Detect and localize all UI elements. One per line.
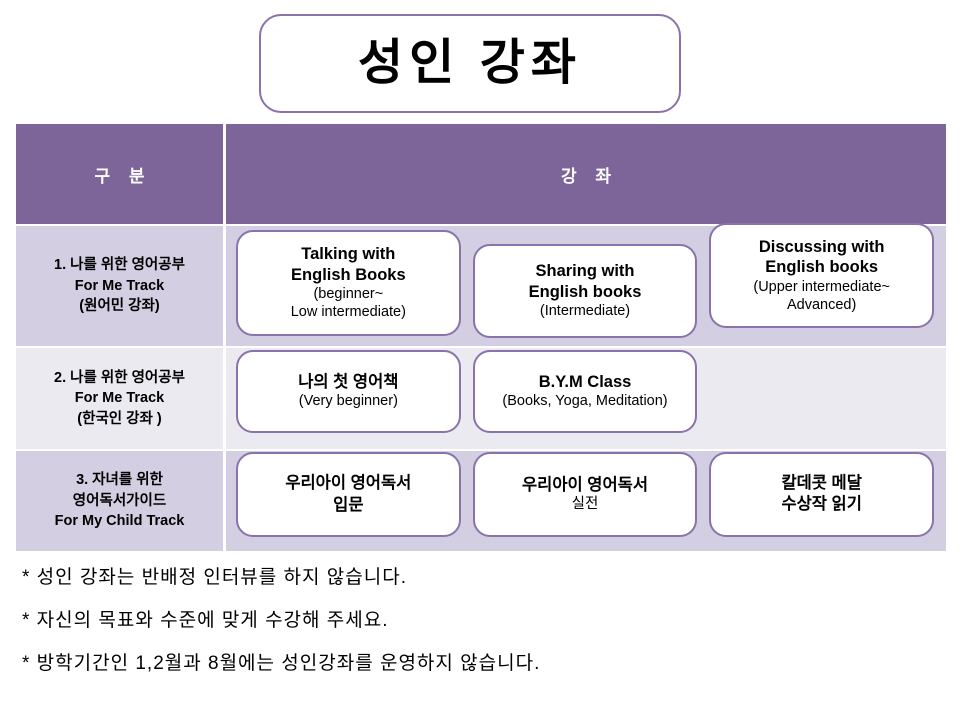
table-row: 1. 나를 위한 영어공부 For Me Track (원어민 강좌) Talk… [16,224,946,346]
note-item: * 방학기간인 1,2월과 8월에는 성인강좌를 운영하지 않습니다. [22,654,938,673]
note-item: * 자신의 목표와 수준에 맞게 수강해 주세요. [22,611,938,630]
card-slot: Talking with English Books (beginner~ Lo… [230,226,467,346]
course-card-subtitle: (Upper intermediate~ Advanced) [753,279,890,314]
course-card-title: 우리아이 영어독서 [522,475,648,496]
course-card-discussing-with-english-books[interactable]: Discussing with English books (Upper int… [709,223,934,328]
course-card-child-reading-intro[interactable]: 우리아이 영어독서 입문 [236,452,461,537]
slide-root: 성인 강좌 구 분 강 좌 1. 나를 위한 영어공부 For Me Track… [0,0,960,720]
card-slot: B.Y.M Class (Books, Yoga, Meditation) [467,348,704,449]
course-card-child-reading-practice[interactable]: 우리아이 영어독서 실전 [473,452,698,537]
header-cell-category: 구 분 [16,124,223,224]
course-card-empty [709,350,934,433]
page-title: 성인 강좌 [358,39,582,88]
course-card-title: 나의 첫 영어책 [298,372,398,393]
course-card-subtitle: (Books, Yoga, Meditation) [502,393,667,411]
course-card-subtitle: (Intermediate) [540,303,630,321]
category-label-3: 3. 자녀를 위한 영어독서가이드 For My Child Track [55,470,185,532]
course-card-title: Sharing with English books [529,261,642,302]
card-slot [703,348,940,449]
header-label-course: 강 좌 [554,162,618,187]
category-cell-1: 1. 나를 위한 영어공부 For Me Track (원어민 강좌) [16,226,223,346]
card-slot: 우리아이 영어독서 실전 [467,451,704,551]
category-label-2: 2. 나를 위한 영어공부 For Me Track (한국인 강좌 ) [54,368,185,430]
course-card-subtitle: (beginner~ Low intermediate) [291,286,406,321]
header-label-category: 구 분 [87,162,151,187]
table-row: 2. 나를 위한 영어공부 For Me Track (한국인 강좌 ) 나의 … [16,346,946,449]
course-card-title: Discussing with English books [759,237,885,278]
table-row: 3. 자녀를 위한 영어독서가이드 For My Child Track 우리아… [16,449,946,551]
course-card-talking-with-english-books[interactable]: Talking with English Books (beginner~ Lo… [236,230,461,336]
course-card-subtitle: (Very beginner) [299,393,398,411]
course-cards-row-1: Talking with English Books (beginner~ Lo… [226,226,946,346]
notes-list: * 성인 강좌는 반배정 인터뷰를 하지 않습니다. * 자신의 목표와 수준에… [22,568,938,673]
category-cell-2: 2. 나를 위한 영어공부 For Me Track (한국인 강좌 ) [16,348,223,449]
course-card-title: B.Y.M Class [539,372,632,393]
header-cell-course: 강 좌 [226,124,946,224]
course-cards-row-3: 우리아이 영어독서 입문 우리아이 영어독서 실전 칼데콧 메달 수상작 읽기 [226,451,946,551]
card-slot: Sharing with English books (Intermediate… [467,226,704,346]
course-table: 구 분 강 좌 1. 나를 위한 영어공부 For Me Track (원어민 … [16,124,946,556]
category-cell-3: 3. 자녀를 위한 영어독서가이드 For My Child Track [16,451,223,551]
page-title-container: 성인 강좌 [259,14,681,113]
course-cards-row-2: 나의 첫 영어책 (Very beginner) B.Y.M Class (Bo… [226,348,946,449]
course-card-bym-class[interactable]: B.Y.M Class (Books, Yoga, Meditation) [473,350,698,433]
course-card-subtitle: 입문 [333,495,363,516]
course-card-my-first-english-book[interactable]: 나의 첫 영어책 (Very beginner) [236,350,461,433]
course-card-sharing-with-english-books[interactable]: Sharing with English books (Intermediate… [473,244,698,338]
page-title-box: 성인 강좌 [259,14,681,113]
table-header-row: 구 분 강 좌 [16,124,946,224]
course-card-title: 우리아이 영어독서 [285,473,411,494]
note-item: * 성인 강좌는 반배정 인터뷰를 하지 않습니다. [22,568,938,587]
card-slot: Discussing with English books (Upper int… [703,226,940,346]
course-card-subtitle: 실전 [572,496,599,514]
card-slot: 나의 첫 영어책 (Very beginner) [230,348,467,449]
course-card-caldecott-medal[interactable]: 칼데콧 메달 수상작 읽기 [709,452,934,537]
card-slot: 우리아이 영어독서 입문 [230,451,467,551]
course-card-title: 칼데콧 메달 수상작 읽기 [781,473,861,514]
course-card-title: Talking with English Books [291,244,406,285]
category-label-1: 1. 나를 위한 영어공부 For Me Track (원어민 강좌) [54,255,185,317]
card-slot: 칼데콧 메달 수상작 읽기 [703,451,940,551]
